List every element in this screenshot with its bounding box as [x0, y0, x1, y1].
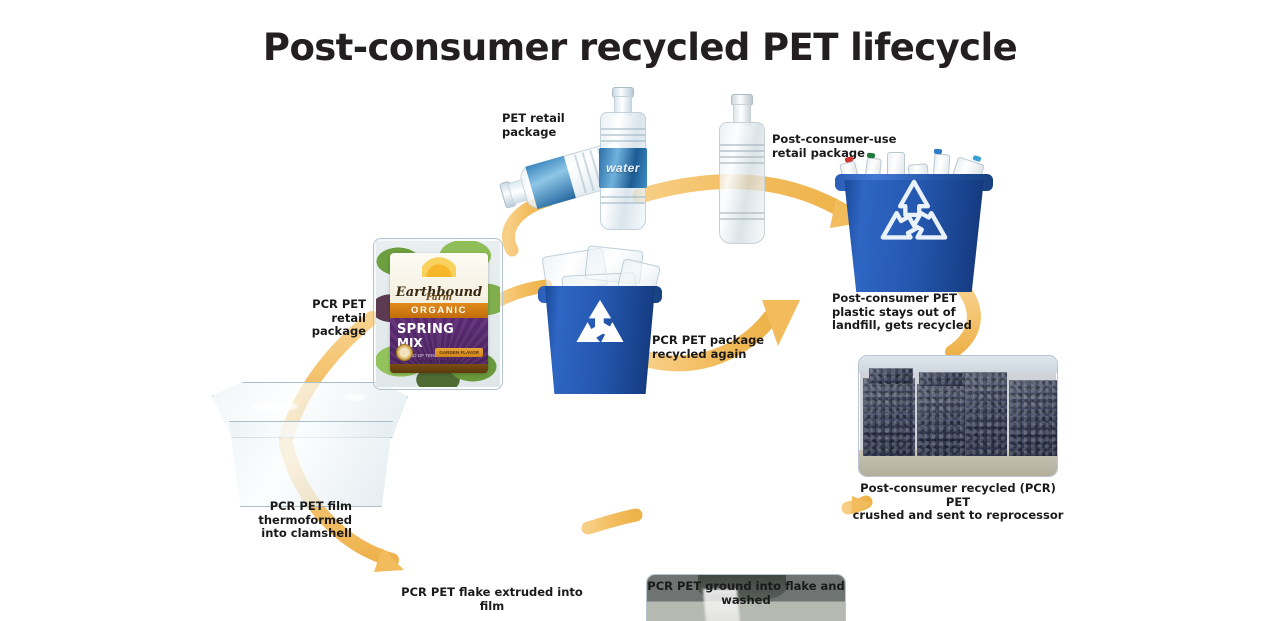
- diagram-canvas: Post-consumer recycled PET lifecycle: [0, 0, 1280, 621]
- caption-pcr-film-thermoformed: PCR PET film thermoformed into clamshell: [230, 500, 352, 541]
- caption-pcr-package-recycled-again: PCR PET package recycled again: [652, 334, 772, 361]
- curbside-recycling-bin: [838, 148, 990, 292]
- product-line-1: SPRING: [397, 323, 481, 336]
- bottle-body: [719, 122, 765, 244]
- caption-pcr-pet-retail-package: PCR PET retail package: [282, 298, 366, 339]
- bottle-label-text: water: [599, 148, 647, 188]
- recycle-symbol-icon: [870, 175, 958, 253]
- organic-band: ORGANIC: [390, 303, 488, 317]
- recycle-symbol-icon: [569, 296, 631, 352]
- label-footer-band: [390, 364, 488, 373]
- brand-subname: Farm: [390, 293, 488, 303]
- photo-pcr-bales: [858, 355, 1058, 477]
- clamshell-base: [218, 421, 404, 507]
- salad-package-label: Earthbound Farm ORGANIC SPRING MIX A BLE…: [390, 253, 488, 373]
- arrow-extrusion-to-wash: [588, 515, 636, 528]
- sun-icon: [422, 255, 456, 277]
- pet-bottle-upright: water: [594, 86, 652, 234]
- empty-clamshell-container: [212, 382, 412, 507]
- bottle-label: water: [599, 148, 647, 188]
- pcr-pet-salad-package: Earthbound Farm ORGANIC SPRING MIX A BLE…: [373, 238, 503, 390]
- caption-pcr-flake-wash: PCR PET ground into flake and washed: [636, 580, 856, 607]
- pcr-recycling-bin: [540, 248, 660, 394]
- caption-pcr-bales: Post-consumer recycled (PCR) PET crushed…: [852, 482, 1064, 523]
- post-consumer-pet-bottle: [716, 92, 768, 244]
- caption-pcr-film-extrusion: PCR PET flake extruded into film: [392, 586, 592, 613]
- flavor-badge: GARDEN FLAVOR: [435, 348, 483, 357]
- caption-post-consumer-pet-recycled: Post-consumer PET plastic stays out of l…: [832, 292, 992, 333]
